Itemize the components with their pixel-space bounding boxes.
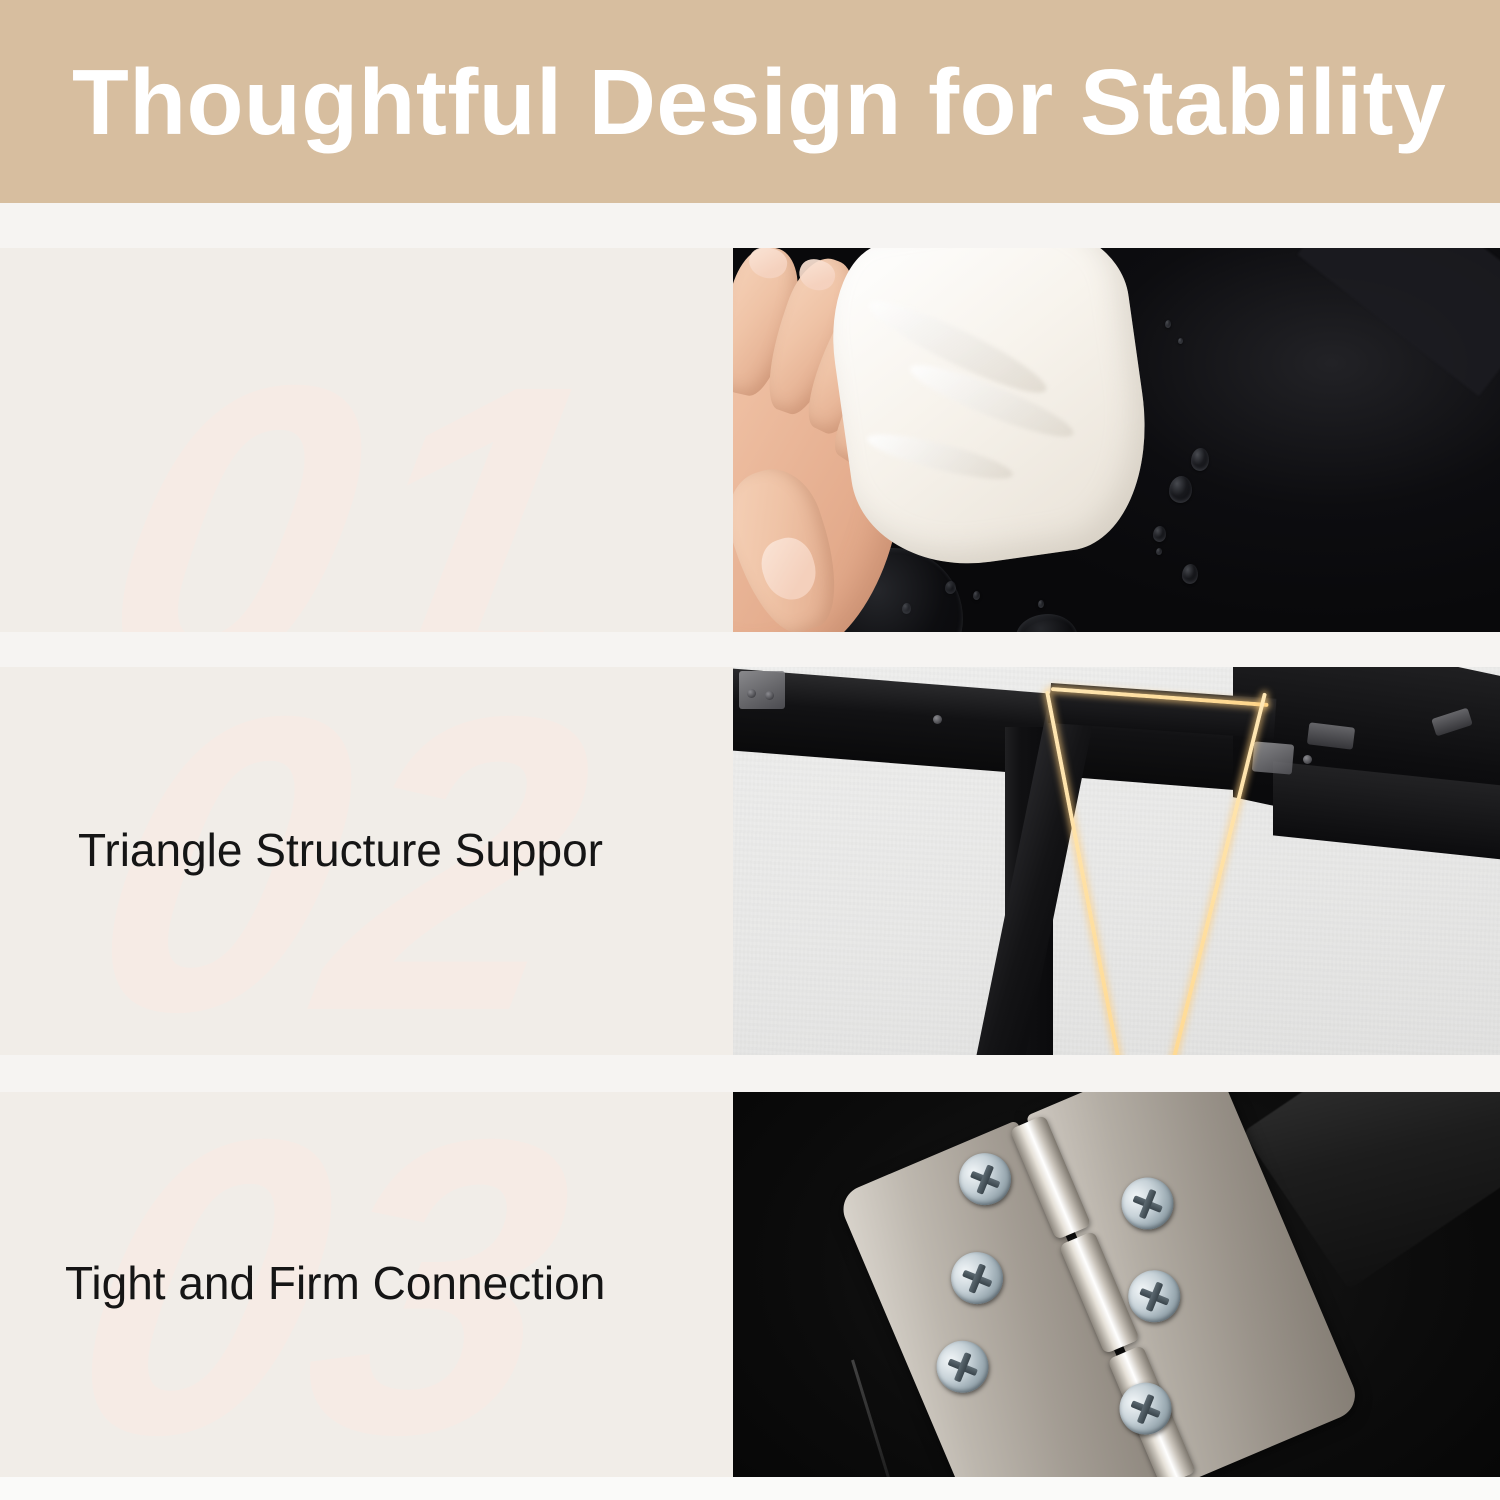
mounting-plate bbox=[1252, 741, 1294, 774]
feature-text-panel-02: 02 Triangle Structure Suppor bbox=[0, 667, 733, 1055]
feature-row-03: 03 Tight and Firm Connection bbox=[0, 1092, 1500, 1477]
feature-row-01: 01 Easy-to-wipe Surface bbox=[0, 248, 1500, 632]
gutter-row-1-2 bbox=[0, 632, 1500, 667]
panel-seam-line bbox=[851, 1360, 906, 1477]
gutter-header bbox=[0, 203, 1500, 248]
feature-row-02: 02 Triangle Structure Suppor bbox=[0, 667, 1500, 1055]
water-droplet bbox=[1178, 338, 1183, 344]
feature-image-02 bbox=[733, 667, 1500, 1055]
water-droplet bbox=[1156, 548, 1162, 555]
water-droplet bbox=[1038, 600, 1044, 608]
screw-head bbox=[1303, 755, 1312, 764]
triangle-bracket-support-photo bbox=[733, 667, 1500, 1055]
gutter-row-2-3 bbox=[0, 1055, 1500, 1092]
header-band: Thoughtful Design for Stability bbox=[0, 0, 1500, 203]
cloth-fold bbox=[864, 426, 1016, 488]
steel-hinge-photo bbox=[733, 1092, 1500, 1477]
feature-image-01 bbox=[733, 248, 1500, 632]
feature-label-02: Triangle Structure Suppor bbox=[78, 827, 603, 873]
infographic-page: Thoughtful Design for Stability 01 Easy-… bbox=[0, 0, 1500, 1500]
hand-wiping-black-tabletop-photo bbox=[733, 248, 1500, 632]
screw-head bbox=[747, 689, 756, 698]
tabletop-edge-highlight bbox=[1297, 248, 1500, 396]
page-title: Thoughtful Design for Stability bbox=[72, 38, 1432, 166]
water-droplet bbox=[1191, 448, 1209, 471]
feature-label-03: Tight and Firm Connection bbox=[65, 1260, 605, 1306]
water-droplet bbox=[1153, 526, 1166, 542]
water-droplet bbox=[1165, 320, 1171, 328]
feature-text-panel-03: 03 Tight and Firm Connection bbox=[0, 1092, 733, 1477]
bottom-strip bbox=[0, 1477, 1500, 1500]
feature-text-panel-01: 01 Easy-to-wipe Surface bbox=[0, 248, 733, 632]
water-droplet bbox=[1182, 564, 1198, 584]
mounting-plate bbox=[739, 671, 785, 709]
water-droplet bbox=[1169, 476, 1192, 503]
screw-head bbox=[933, 715, 942, 724]
screw-head bbox=[765, 691, 774, 700]
feature-image-03 bbox=[733, 1092, 1500, 1477]
watermark-number-01: 01 bbox=[77, 324, 626, 632]
